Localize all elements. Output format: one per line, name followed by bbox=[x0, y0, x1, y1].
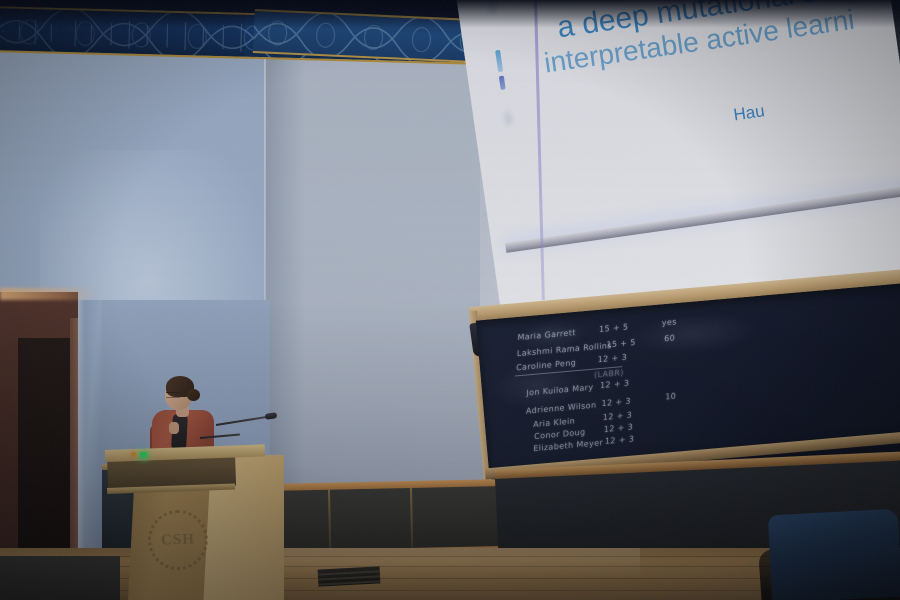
chalk-line-name: Maria Garrett bbox=[517, 328, 575, 342]
podium-status-led-green bbox=[140, 452, 147, 458]
chalk-line-name: Elizabeth Meyer bbox=[533, 438, 603, 453]
chalk-line-extra: yes bbox=[662, 317, 677, 327]
wainscot-seam bbox=[410, 488, 413, 550]
doorway-top-light bbox=[0, 288, 96, 300]
chalk-line-value: 12 + 3 bbox=[601, 396, 631, 408]
chalk-line-value: 15 + 5 bbox=[599, 322, 629, 334]
speaker-hand bbox=[169, 422, 179, 434]
chalk-line-value: 12 + 3 bbox=[598, 353, 628, 365]
bullet-marker-4-icon bbox=[503, 111, 514, 126]
podium-status-led-amber bbox=[131, 452, 136, 457]
chalk-line-value: 15 + 5 bbox=[606, 338, 636, 350]
chalk-line-extra: 60 bbox=[664, 333, 675, 343]
chalk-line-value: 12 + 3 bbox=[603, 410, 633, 422]
chalk-line-name: Aria Klein bbox=[533, 416, 575, 429]
upholstered-seat bbox=[768, 509, 900, 600]
chalk-line-name: Conor Doug bbox=[534, 428, 585, 442]
chalk-line-group: (LABR) bbox=[594, 368, 624, 380]
bullet-marker-3-icon bbox=[499, 76, 506, 91]
slide-author: Hau bbox=[732, 101, 766, 125]
bullet-marker-1-icon bbox=[487, 0, 498, 15]
floor-left-dark bbox=[0, 556, 120, 600]
chalk-line-name: Jon Kuiloa Mary bbox=[526, 383, 593, 398]
chalk-line-extra: 10 bbox=[665, 392, 676, 402]
lecture-hall-photo: Predicting a deep mutational scan interp… bbox=[0, 0, 900, 600]
speaker-glasses bbox=[166, 392, 180, 398]
bullet-marker-2-icon bbox=[495, 50, 503, 72]
floor-vent bbox=[318, 566, 381, 586]
chalk-line-value: 12 + 3 bbox=[605, 434, 635, 446]
speaker-hair-bun bbox=[187, 389, 200, 401]
wall-center-shadow bbox=[265, 22, 305, 502]
chalk-line-value: 12 + 3 bbox=[604, 422, 634, 434]
chalk-smudge bbox=[626, 308, 759, 359]
frieze-shadow-left bbox=[0, 8, 245, 61]
chalk-line-name: Adrienne Wilson bbox=[526, 400, 597, 415]
wainscot-center bbox=[268, 486, 505, 553]
chalk-line-value: 12 + 3 bbox=[600, 379, 630, 391]
wainscot-seam bbox=[328, 490, 331, 552]
podium-seal-text: CSH bbox=[161, 531, 195, 549]
